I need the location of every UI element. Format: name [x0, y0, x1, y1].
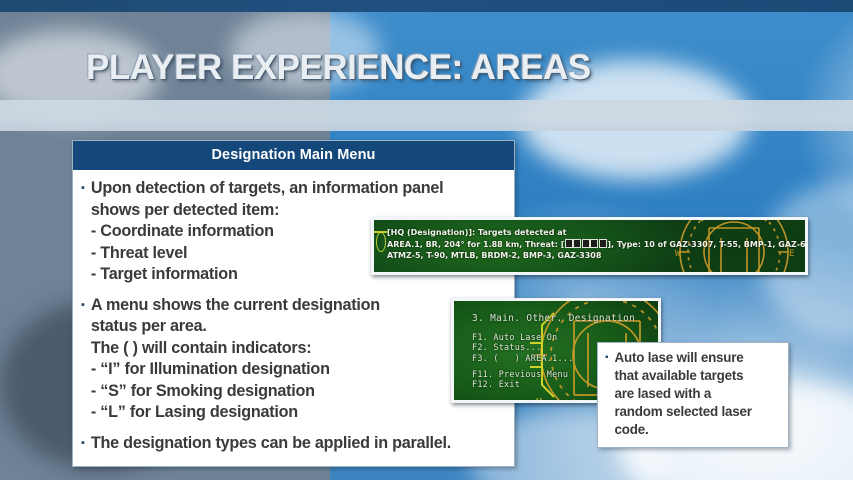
bullet-text: The designation types can be applied in … [91, 433, 451, 455]
bullet-line: status per area. [91, 316, 380, 338]
hud-line-1: [HQ (Designation)]: Targets detected at [387, 227, 808, 239]
top-accent-band [0, 0, 853, 12]
threat-block [565, 239, 573, 248]
bullet-text: A menu shows the current designation sta… [91, 295, 380, 424]
bullet-line: - “S” for Smoking designation [91, 381, 380, 403]
bullet-line: Upon detection of targets, an informatio… [91, 178, 444, 200]
bullet-square-icon: ▪ [605, 349, 609, 367]
bullet-line: The designation types can be applied in … [91, 433, 451, 455]
hud-tick-circle-icon [376, 232, 386, 252]
hud-line-2-post: ], Type: 10 of GAZ-3307, T-55, BMP-1, GA… [607, 240, 808, 249]
designation-content-card: Designation Main Menu ▪ Upon detection o… [72, 140, 515, 467]
threat-block [599, 239, 607, 248]
bullet-line: A menu shows the current designation [91, 295, 380, 317]
bullet-line: The ( ) will contain indicators: [91, 338, 380, 360]
card-header-title: Designation Main Menu [73, 141, 514, 170]
page-title: PLAYER EXPERIENCE: AREAS [86, 48, 591, 88]
threat-block [582, 239, 590, 248]
hud-target-detection-panel: N E S W [HQ (Designation)]: Targets dete… [371, 217, 808, 275]
bullet-line: - “I” for Illumination designation [91, 359, 380, 381]
presentation-slide: PLAYER EXPERIENCE: AREAS Designation Mai… [0, 0, 853, 480]
card-body: ▪ Upon detection of targets, an informat… [73, 170, 514, 466]
menu-title: 3. Main. Other. Designation [472, 314, 635, 324]
bullet-item: ▪ The designation types can be applied i… [81, 433, 506, 455]
bullet-square-icon: ▪ [81, 433, 85, 454]
callout-line: are lased with a [615, 385, 752, 403]
threat-level-meter [564, 240, 607, 249]
bullet-item: ▪ A menu shows the current designation s… [81, 295, 506, 424]
svg-text:N: N [604, 298, 610, 300]
callout-line: code. [615, 421, 752, 439]
callout-line: Auto lase will ensure [615, 349, 752, 367]
hud-line-2-pre: AREA.1, BR, 204° for 1.88 km, Threat: [ [387, 240, 564, 249]
hud-line-2: AREA.1, BR, 204° for 1.88 km, Threat: []… [387, 239, 808, 251]
menu-footer-list[interactable]: F11. Previous Menu F12. Exit [472, 369, 568, 390]
bullet-square-icon: ▪ [81, 178, 85, 199]
callout-line: random selected laser [615, 403, 752, 421]
menu-option-list[interactable]: F1. Auto Lase On F2. Status... F3. ( ) A… [472, 332, 574, 363]
title-underband [0, 100, 853, 131]
threat-block [590, 239, 598, 248]
hud-line-3: ATMZ-5, T-90, MTLB, BRDM-2, BMP-3, GAZ-3… [387, 250, 808, 262]
auto-lase-callout-box: ▪ Auto lase will ensure that available t… [597, 342, 789, 448]
bullet-line: - “L” for Lasing designation [91, 402, 380, 424]
threat-block [573, 239, 581, 248]
hud-target-text: [HQ (Designation)]: Targets detected at … [387, 227, 808, 262]
bullet-square-icon: ▪ [81, 295, 85, 316]
callout-text: Auto lase will ensure that available tar… [615, 349, 752, 439]
callout-line: that available targets [615, 367, 752, 385]
